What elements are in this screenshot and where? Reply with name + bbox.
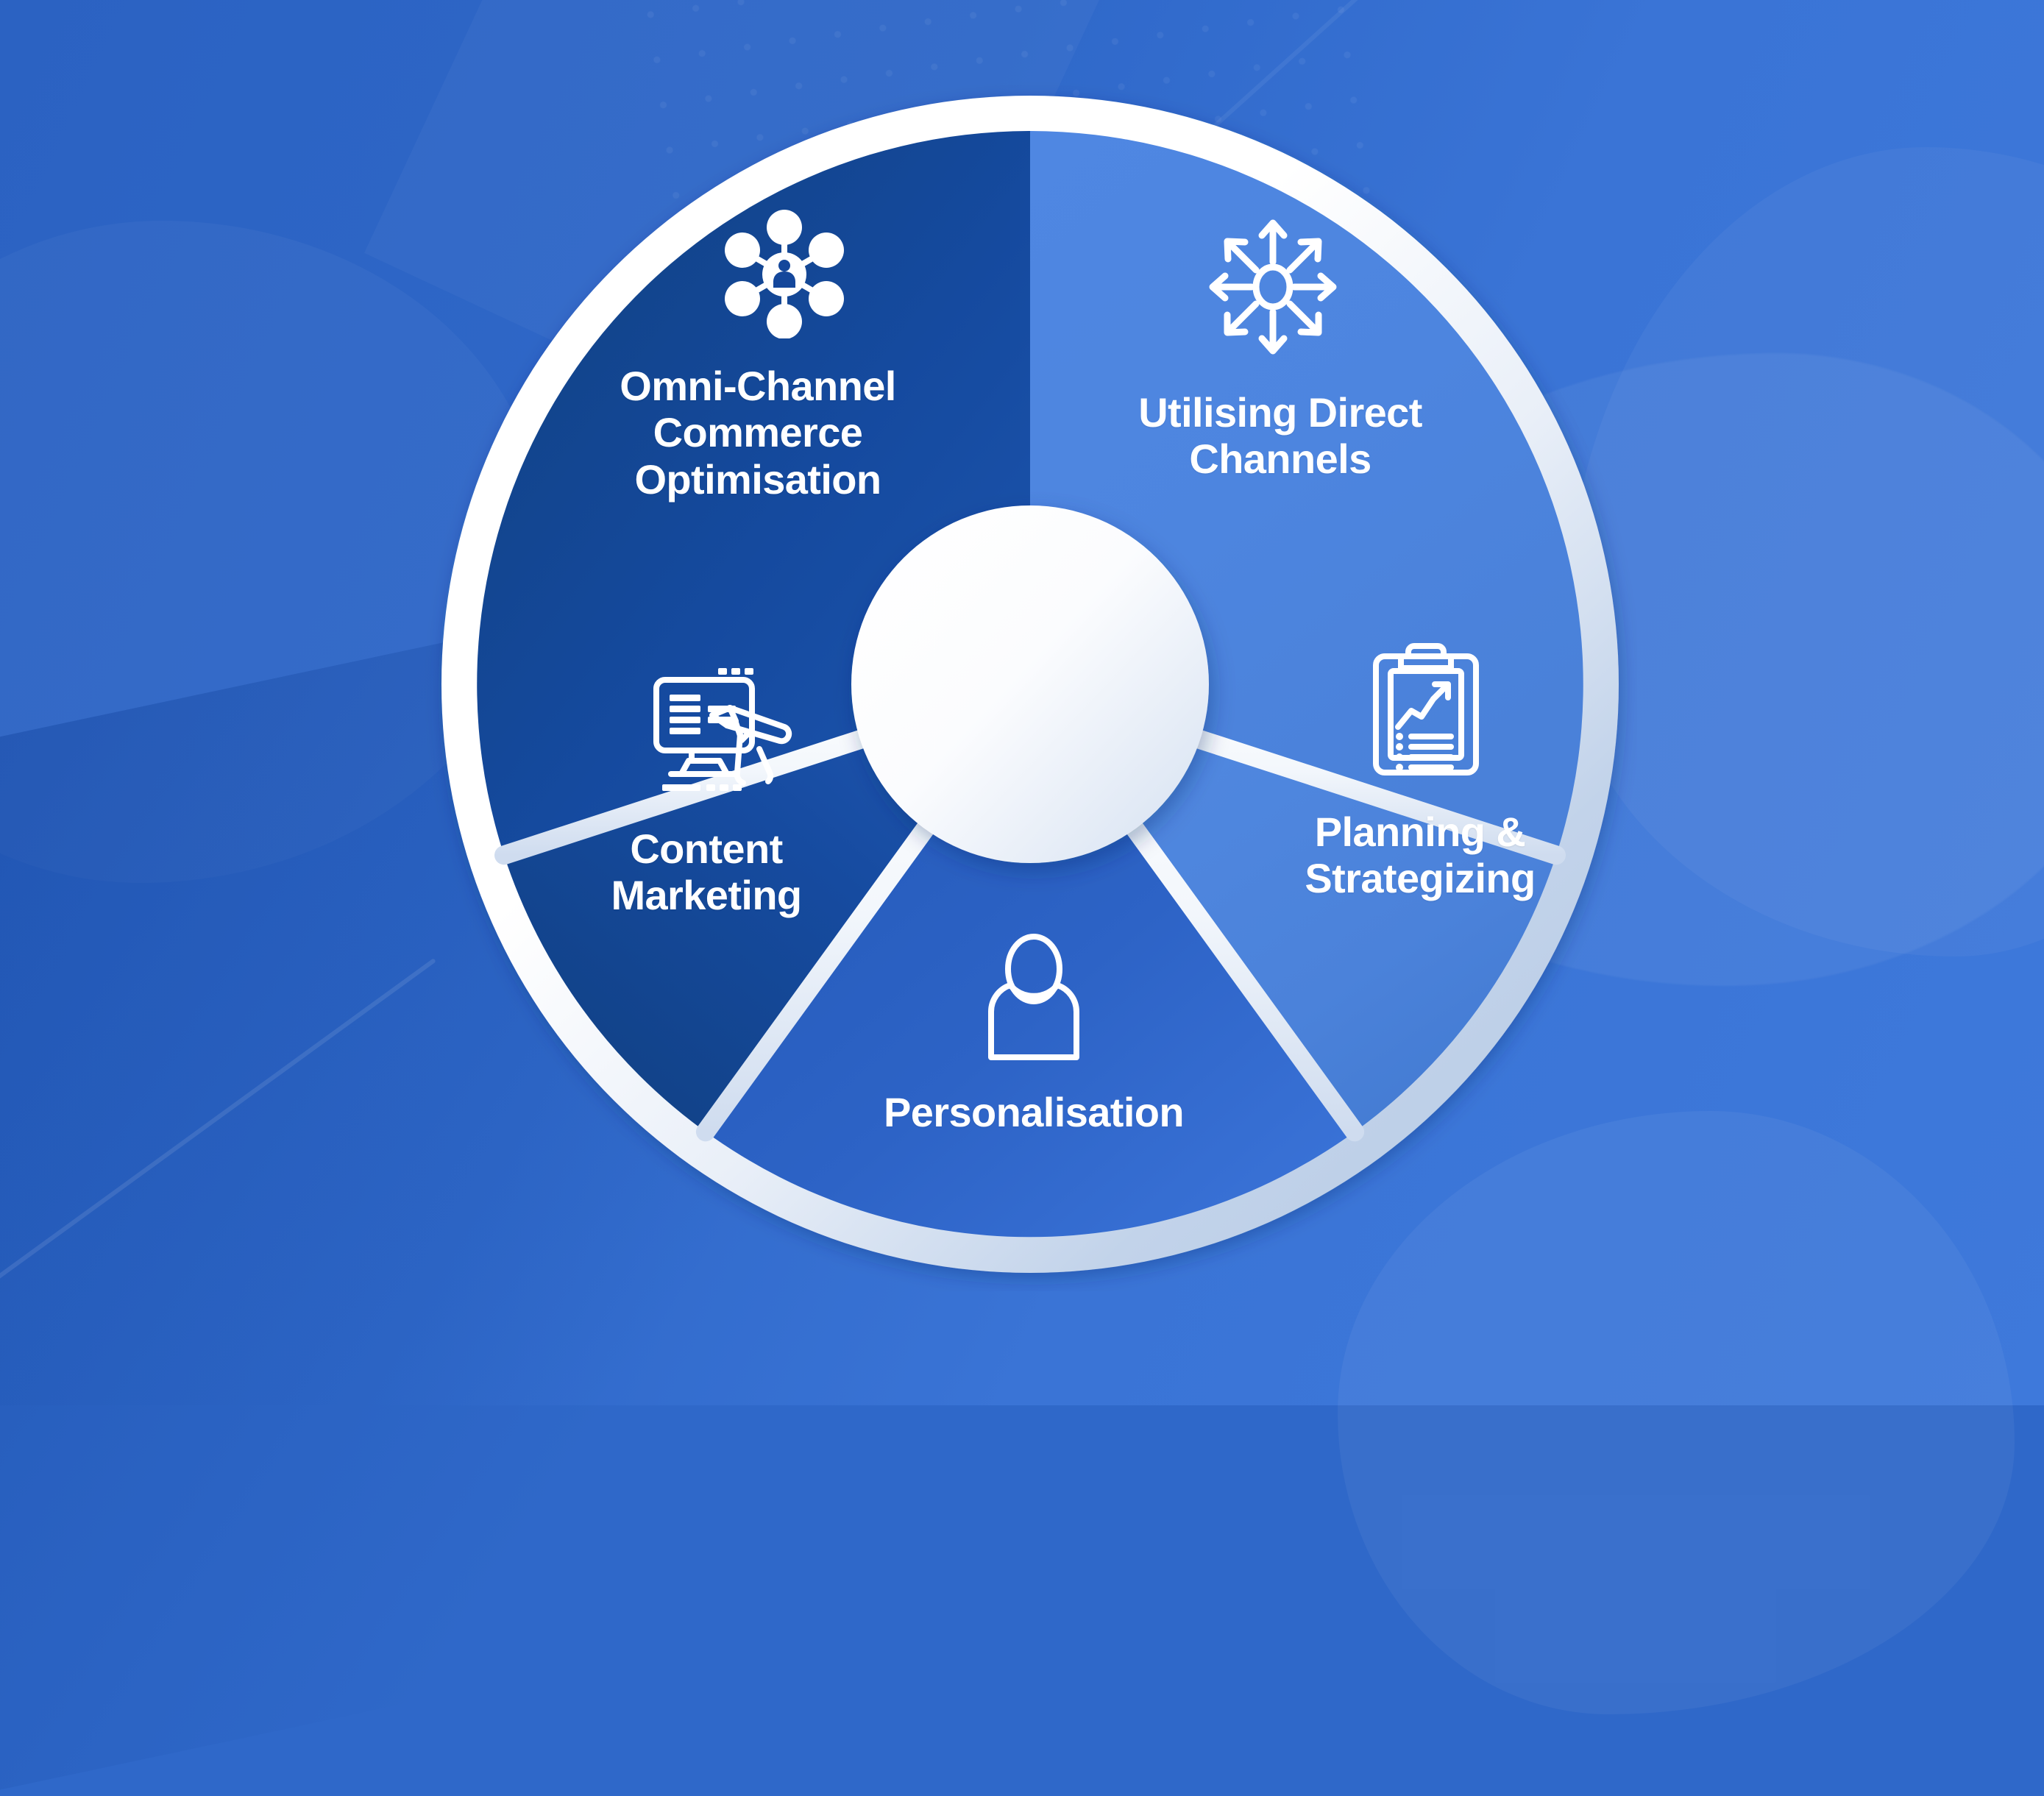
- eight-direction-arrows-icon: [1196, 213, 1350, 364]
- segment-content-omni-channel[interactable]: Omni-Channel Commerce Optimisation: [559, 210, 957, 503]
- segment-label-planning-strategizing: Planning & Strategizing: [1305, 809, 1535, 902]
- segment-content-content-marketing[interactable]: Content Marketing: [530, 662, 883, 919]
- wheel-center-hub: [851, 505, 1209, 863]
- network-hub-people-icon: [714, 210, 854, 342]
- segment-label-personalisation: Personalisation: [884, 1089, 1184, 1135]
- segment-label-utilising-direct-channels: Utilising Direct Channels: [1138, 389, 1422, 483]
- segment-content-planning-strategizing[interactable]: Planning & Strategizing: [1262, 640, 1578, 902]
- segment-content-personalisation[interactable]: Personalisation: [842, 931, 1225, 1135]
- monitor-pen-writing-icon: [647, 662, 795, 802]
- user-person-icon: [979, 931, 1089, 1067]
- infographic-canvas: Omni-Channel Commerce Optimisation: [0, 0, 2044, 1405]
- segment-label-omni-channel: Omni-Channel Commerce Optimisation: [620, 363, 895, 503]
- segment-content-utilising-direct-channels[interactable]: Utilising Direct Channels: [1089, 213, 1472, 483]
- clipboard-growth-chart-icon: [1367, 640, 1485, 784]
- segment-label-content-marketing: Content Marketing: [611, 826, 801, 919]
